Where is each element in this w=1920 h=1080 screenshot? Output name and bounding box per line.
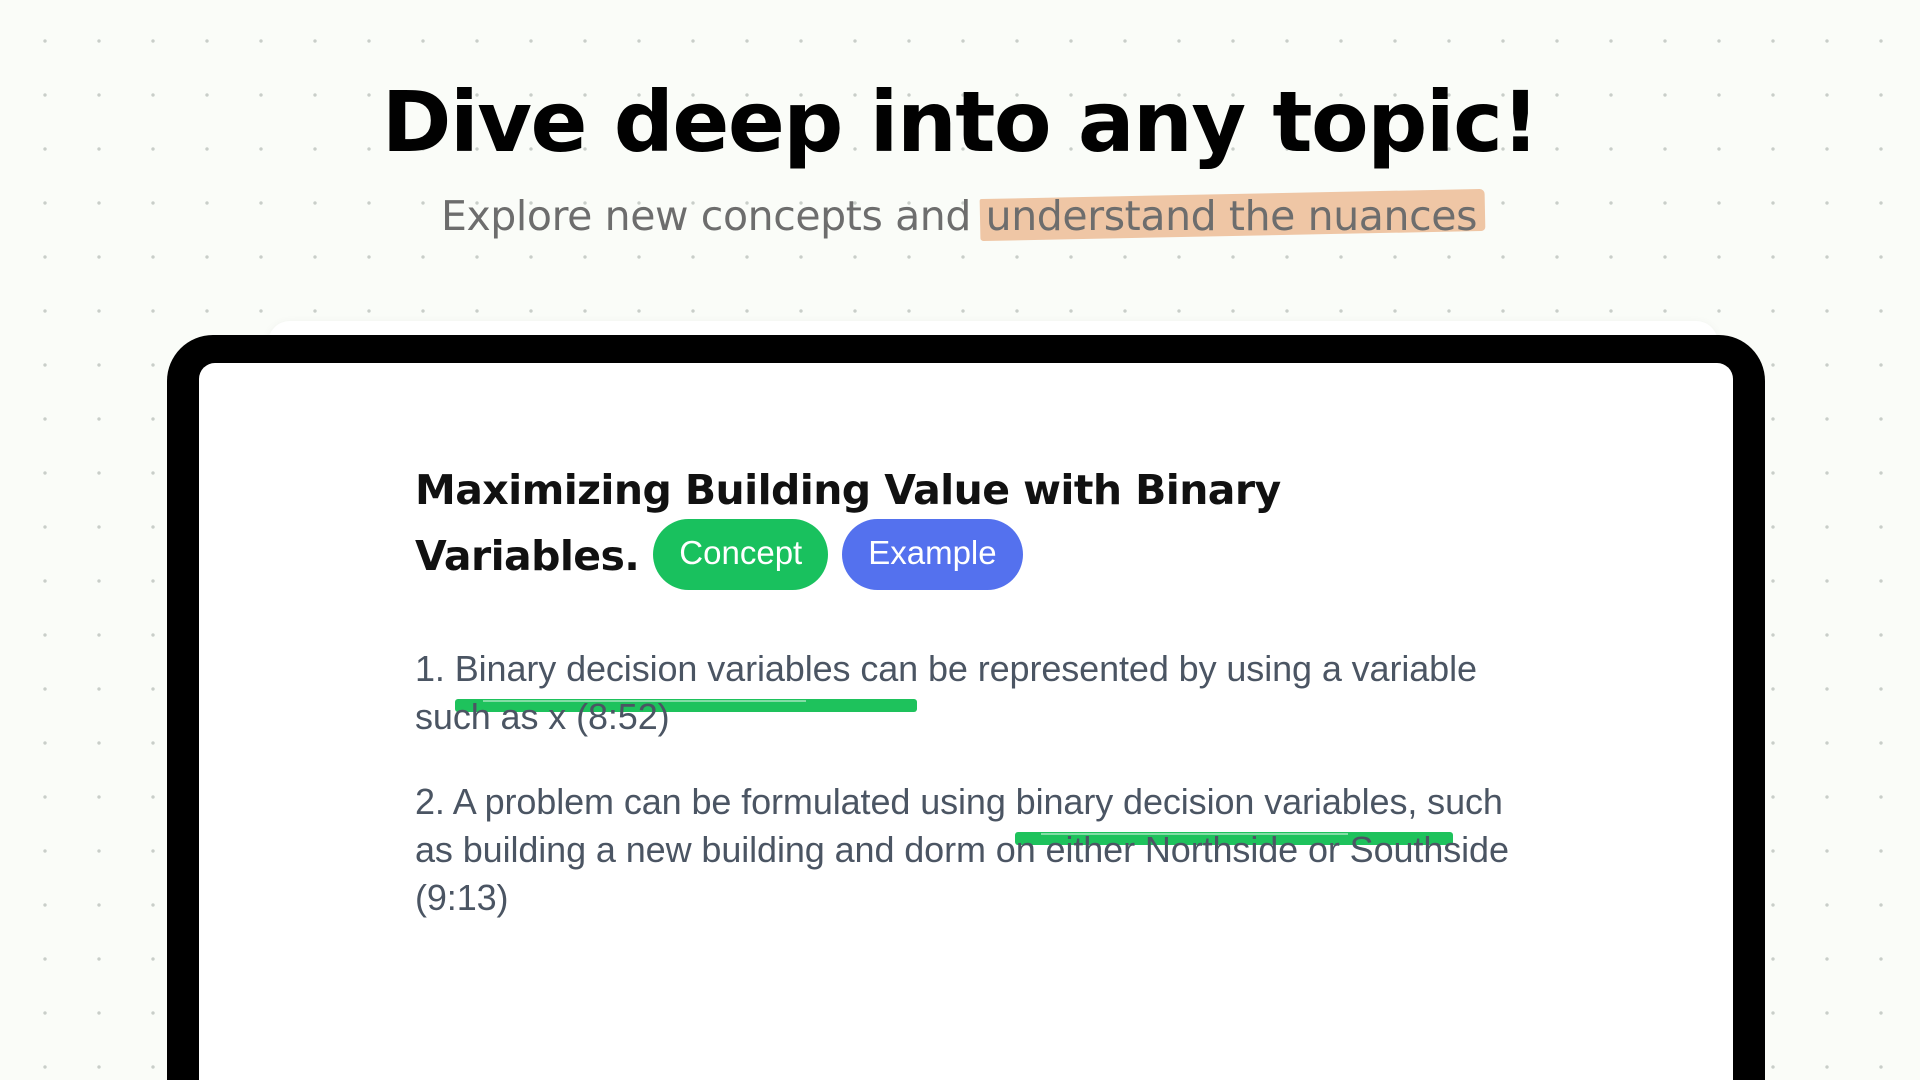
- hero-section: Dive deep into any topic! Explore new co…: [0, 0, 1920, 240]
- note-heading: Maximizing Building Value with Binary Va…: [415, 457, 1375, 595]
- hero-subtitle-highlighted: understand the nuances: [984, 192, 1479, 240]
- page-title: Dive deep into any topic!: [0, 78, 1920, 166]
- badge-concept[interactable]: Concept: [653, 519, 828, 589]
- hero-subtitle-plain: Explore new concepts and: [441, 192, 984, 240]
- note-list: 1. Binary decision variables can be repr…: [415, 645, 1595, 922]
- hero-subtitle: Explore new concepts and understand the …: [441, 192, 1479, 240]
- badge-example[interactable]: Example: [842, 519, 1022, 589]
- list-item: 1. Binary decision variables can be repr…: [415, 645, 1535, 741]
- tablet-screen: Maximizing Building Value with Binary Va…: [199, 363, 1733, 1080]
- list-item: 2. A problem can be formulated using bin…: [415, 778, 1535, 922]
- note-item-text-2: 2. A problem can be formulated using bin…: [415, 781, 1509, 918]
- tablet-device-frame: Maximizing Building Value with Binary Va…: [167, 335, 1765, 1080]
- note-content: Maximizing Building Value with Binary Va…: [415, 457, 1595, 960]
- note-item-text-1: 1. Binary decision variables can be repr…: [415, 648, 1477, 737]
